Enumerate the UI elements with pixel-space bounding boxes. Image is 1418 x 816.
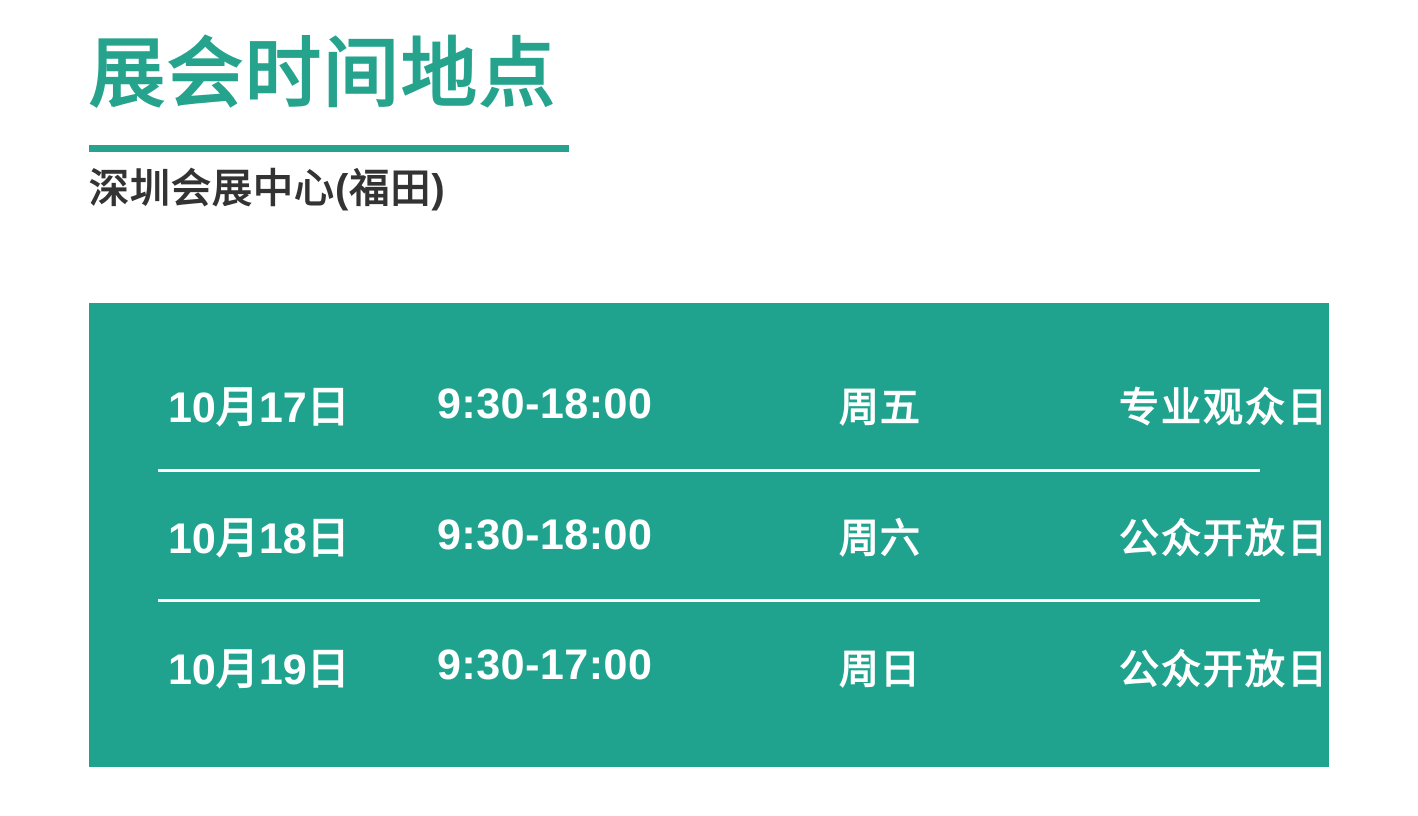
cell-date: 10月19日 [158, 600, 423, 730]
table-row: 10月19日 9:30-17:00 周日 公众开放日 [158, 600, 1260, 730]
cell-time: 9:30-17:00 [423, 600, 787, 730]
poster-page: 展会时间地点 深圳会展中心(福田) 10月17日 9:30-18:00 周五 专… [0, 0, 1418, 816]
cell-weekday: 周日 [787, 600, 1074, 730]
cell-day-type: 专业观众日 [1074, 340, 1260, 470]
cell-weekday: 周五 [787, 340, 1074, 470]
venue-subtitle: 深圳会展中心(福田) [89, 152, 1329, 213]
schedule-table: 10月17日 9:30-18:00 周五 专业观众日 10月18日 9:30-1… [158, 340, 1260, 730]
cell-day-type: 公众开放日 [1074, 470, 1260, 600]
cell-date: 10月17日 [158, 340, 423, 470]
schedule-panel: 10月17日 9:30-18:00 周五 专业观众日 10月18日 9:30-1… [89, 303, 1329, 767]
schedule-table-body: 10月17日 9:30-18:00 周五 专业观众日 10月18日 9:30-1… [158, 340, 1260, 730]
title-divider-rule [89, 145, 569, 152]
cell-date: 10月18日 [158, 470, 423, 600]
header-block: 展会时间地点 深圳会展中心(福田) [89, 36, 1329, 213]
cell-time: 9:30-18:00 [423, 470, 787, 600]
page-title: 展会时间地点 [89, 36, 1329, 114]
cell-day-type: 公众开放日 [1074, 600, 1260, 730]
table-row: 10月17日 9:30-18:00 周五 专业观众日 [158, 340, 1260, 470]
table-row: 10月18日 9:30-18:00 周六 公众开放日 [158, 470, 1260, 600]
cell-time: 9:30-18:00 [423, 340, 787, 470]
cell-weekday: 周六 [787, 470, 1074, 600]
